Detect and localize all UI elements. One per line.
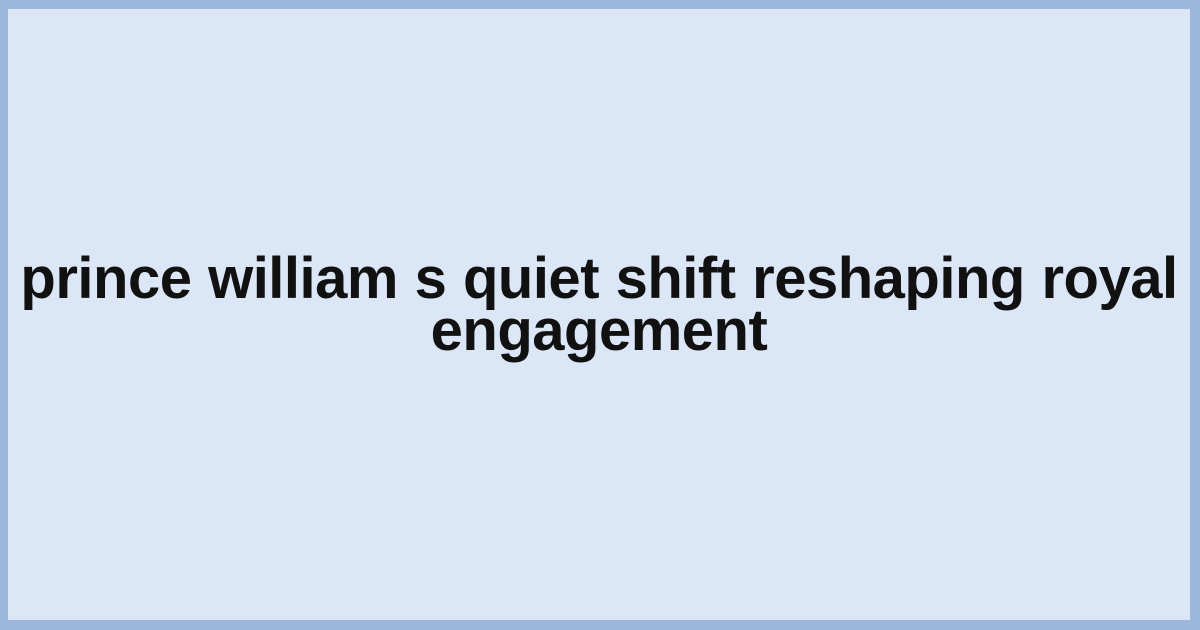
social-preview-card: prince william s quiet shift reshaping r… [0, 0, 1200, 630]
page-title: prince william s quiet shift reshaping r… [8, 253, 1190, 357]
card-content-area: prince william s quiet shift reshaping r… [8, 9, 1190, 620]
